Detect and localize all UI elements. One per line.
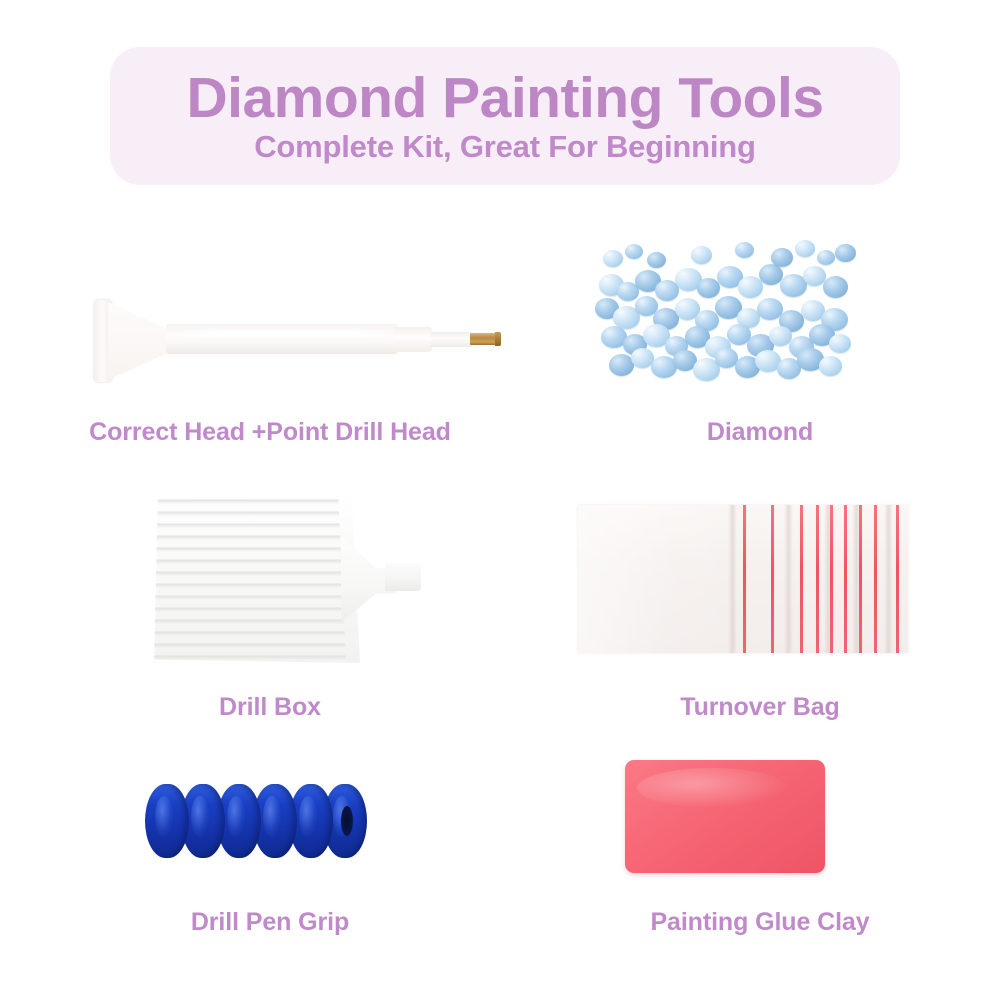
clay-highlight	[637, 768, 787, 808]
tray-spout	[385, 563, 421, 591]
product-label-painting-glue-clay: Painting Glue Clay	[540, 908, 980, 937]
diamond-bead	[691, 246, 712, 264]
tray-grooves	[150, 495, 346, 663]
grip-segment	[145, 784, 189, 858]
pen-collar	[394, 327, 432, 352]
diamond-bead	[625, 244, 643, 259]
bag-seal-stripe	[874, 505, 877, 653]
bag-seal-stripe	[771, 505, 774, 653]
page-subtitle: Complete Kit, Great For Beginning	[254, 131, 755, 164]
bag-fold	[784, 505, 793, 653]
diamond-bead	[603, 250, 623, 267]
diamond-bead	[697, 278, 720, 298]
product-label-drill-pen-grip: Drill Pen Grip	[20, 908, 520, 937]
diamond-bead	[735, 242, 754, 258]
bag-seal-stripe	[896, 505, 899, 653]
bag-seal-stripe	[844, 505, 847, 653]
bag-seal-stripe	[800, 505, 803, 653]
pen-shaft-highlight	[174, 330, 390, 337]
diamond-drills-image	[595, 230, 857, 385]
grip-end-hole	[341, 806, 353, 836]
diamond-bead	[823, 276, 848, 298]
diamond-bead	[835, 244, 856, 262]
diamond-bead	[819, 356, 842, 376]
drill-pen-grip-image	[145, 770, 375, 880]
drill-box-image	[145, 485, 425, 675]
drill-pen-image	[50, 270, 510, 390]
diamond-bead	[647, 252, 666, 268]
diamond-bead	[795, 240, 815, 257]
product-label-turnover-bag: Turnover Bag	[540, 693, 980, 722]
bag-seal-stripe	[859, 505, 862, 653]
pen-tip-end	[495, 332, 501, 346]
bag-fold	[728, 505, 737, 653]
clay-slab	[625, 760, 825, 873]
diamond-bead	[738, 276, 763, 298]
header-banner: Diamond Painting Tools Complete Kit, Gre…	[110, 47, 900, 185]
bag-fold	[884, 505, 893, 653]
pen-neck	[430, 332, 472, 347]
painting-glue-clay-image	[625, 760, 845, 880]
diamond-bead	[817, 250, 835, 265]
page-title: Diamond Painting Tools	[186, 69, 823, 127]
bag-seal-stripe	[830, 505, 833, 653]
product-label-drill-box: Drill Box	[20, 693, 520, 722]
product-label-diamond: Diamond	[540, 418, 980, 447]
pen-shaft	[166, 324, 398, 354]
product-label-pen: Correct Head +Point Drill Head	[20, 418, 520, 447]
bag-seal-stripe	[743, 505, 746, 653]
bag-sheen	[578, 505, 736, 653]
turnover-bag-image	[578, 505, 908, 653]
pen-point-drill-gold-tip	[470, 333, 497, 345]
pen-head-flare	[108, 302, 170, 380]
diamond-bead	[771, 248, 793, 267]
bag-seal-stripe	[816, 505, 819, 653]
diamond-bead	[829, 334, 851, 353]
